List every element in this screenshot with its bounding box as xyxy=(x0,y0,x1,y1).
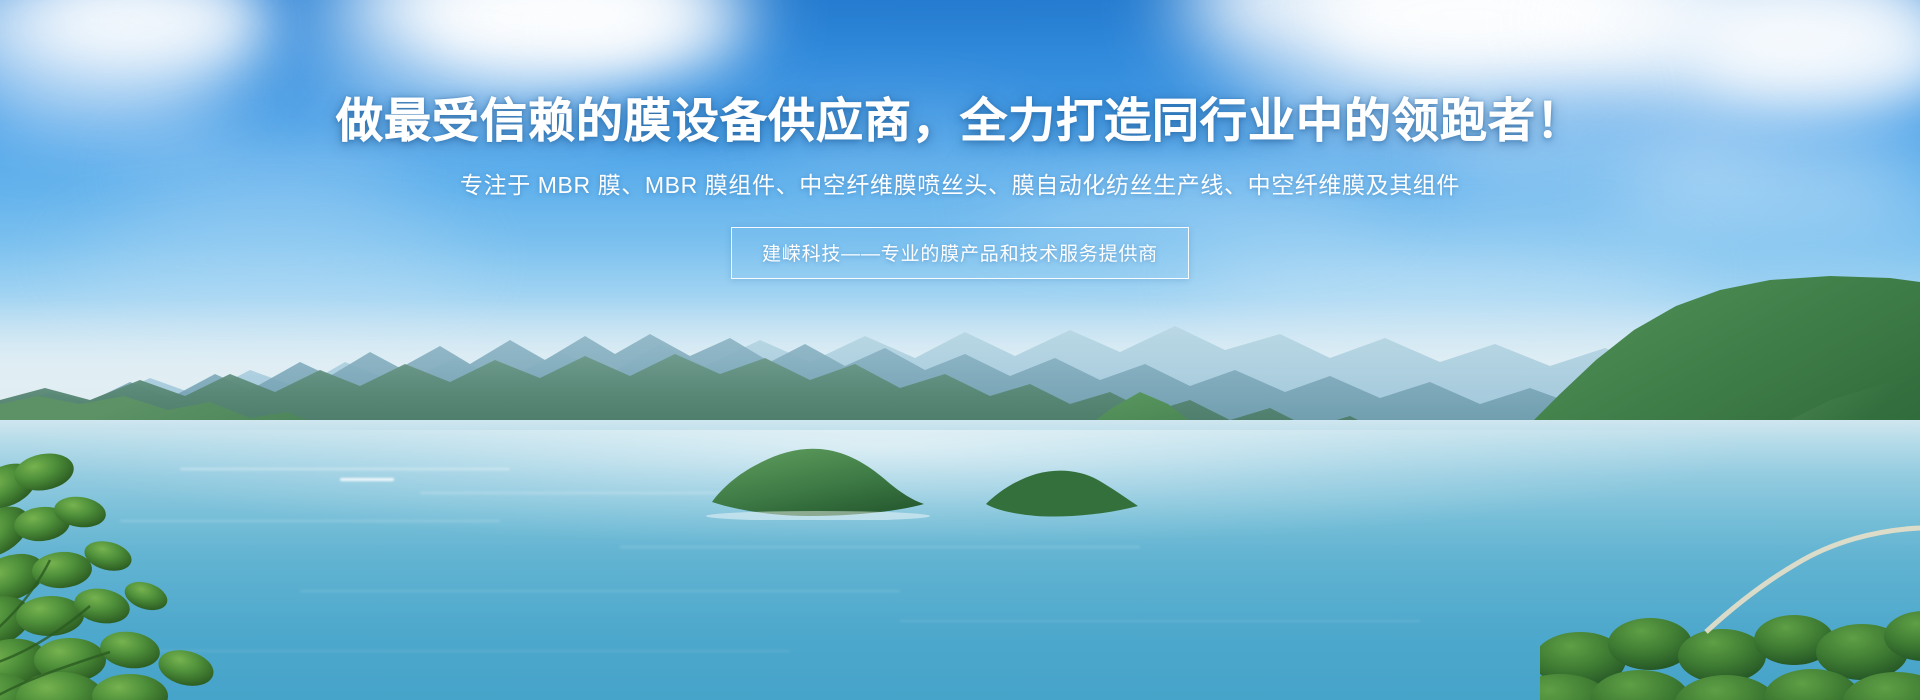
boat-wake xyxy=(340,478,394,481)
lake-island xyxy=(700,430,940,520)
cloud xyxy=(1240,60,1620,140)
water-streak xyxy=(300,590,900,592)
foreground-foliage-left xyxy=(0,400,300,700)
cloud xyxy=(300,40,600,110)
cloud xyxy=(760,120,1020,164)
cloud xyxy=(120,150,420,200)
water-streak xyxy=(900,620,1420,622)
cloud xyxy=(980,170,1400,230)
hillside-road xyxy=(1620,480,1920,640)
lake-island-small xyxy=(980,452,1140,522)
water-streak xyxy=(620,546,1140,548)
cloud xyxy=(1620,150,1920,220)
hero-banner: 做最受信赖的膜设备供应商，全力打造同行业中的领跑者！ 专注于 MBR 膜、MBR… xyxy=(0,0,1920,700)
cloud xyxy=(560,0,740,60)
